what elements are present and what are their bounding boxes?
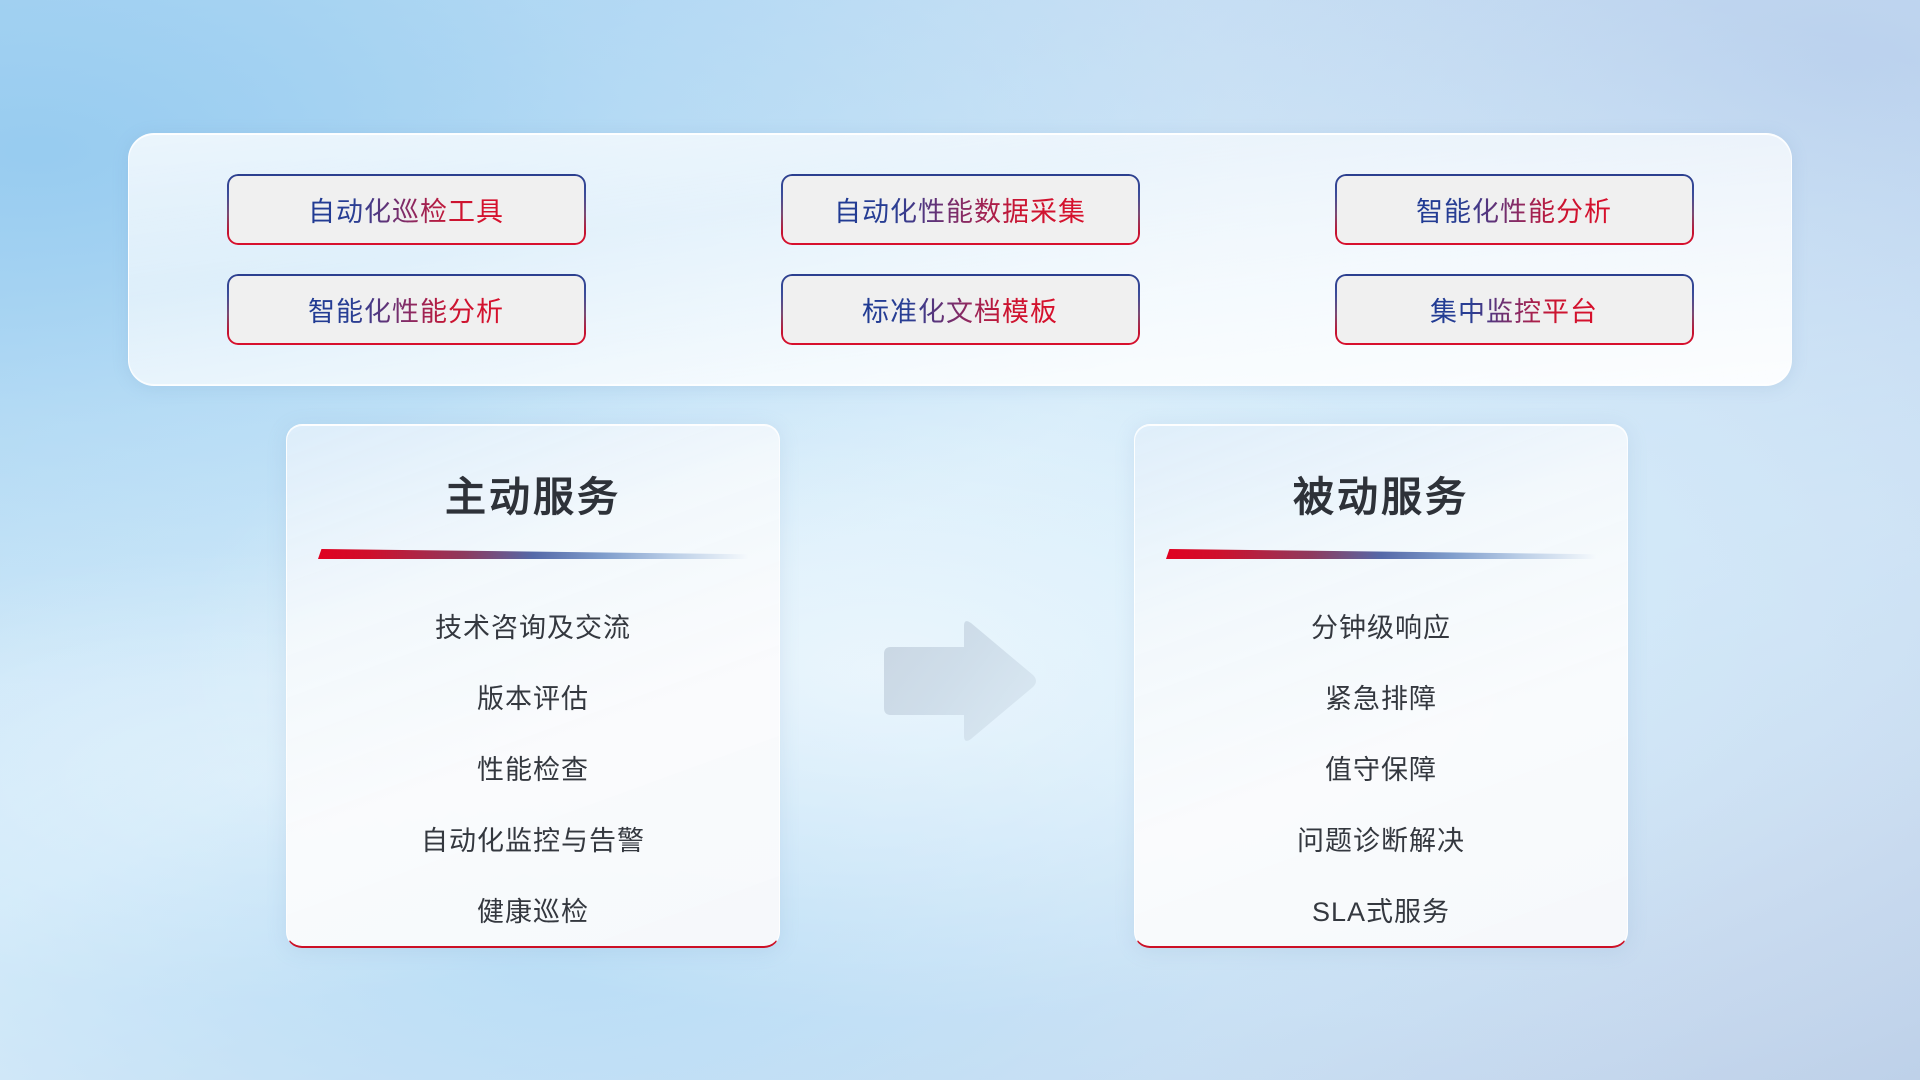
capability-tag-label: 智能化性能分析 <box>1416 190 1612 229</box>
service-item-list: 技术咨询及交流 版本评估 性能检查 自动化监控与告警 健康巡检 <box>287 593 779 948</box>
capability-tag-label: 自动化巡检工具 <box>308 190 504 229</box>
service-list-item: 版本评估 <box>287 664 779 735</box>
service-list-item: 值守保障 <box>1135 735 1627 806</box>
service-card-reactive[interactable]: 被动服务 分钟级响应 紧急排障 值守保障 问题诊断解决 SLA式服务 <box>1134 424 1628 948</box>
service-list-item: SLA式服务 <box>1135 877 1627 948</box>
slide-canvas: 自动化巡检工具 自动化性能数据采集 智能化性能分析 智能化性能分析 标准化文档模… <box>0 0 1920 1080</box>
title-divider <box>318 549 748 559</box>
divider-wedge <box>318 549 748 559</box>
service-list-item: 技术咨询及交流 <box>287 593 779 664</box>
right-arrow-icon <box>878 618 1038 744</box>
service-item-list: 分钟级响应 紧急排障 值守保障 问题诊断解决 SLA式服务 <box>1135 593 1627 948</box>
service-card-proactive[interactable]: 主动服务 技术咨询及交流 版本评估 性能检查 自动化监控与告警 健康巡检 <box>286 424 780 948</box>
capability-tag-label: 标准化文档模板 <box>862 290 1058 329</box>
capability-tag[interactable]: 自动化巡检工具 <box>227 174 586 245</box>
capability-tag[interactable]: 标准化文档模板 <box>781 274 1140 345</box>
capability-tag-label: 集中监控平台 <box>1430 290 1598 329</box>
capability-tag[interactable]: 智能化性能分析 <box>1335 174 1694 245</box>
capability-tag-label: 自动化性能数据采集 <box>834 190 1086 229</box>
service-card-title: 被动服务 <box>1135 463 1627 523</box>
service-list-item: 性能检查 <box>287 735 779 806</box>
service-list-item: 自动化监控与告警 <box>287 806 779 877</box>
capability-tags-grid: 自动化巡检工具 自动化性能数据采集 智能化性能分析 智能化性能分析 标准化文档模… <box>129 134 1791 385</box>
capability-tags-panel: 自动化巡检工具 自动化性能数据采集 智能化性能分析 智能化性能分析 标准化文档模… <box>128 133 1792 386</box>
capability-tag[interactable]: 智能化性能分析 <box>227 274 586 345</box>
divider-wedge <box>1166 549 1596 559</box>
service-list-item: 问题诊断解决 <box>1135 806 1627 877</box>
service-list-item: 紧急排障 <box>1135 664 1627 735</box>
capability-tag[interactable]: 自动化性能数据采集 <box>781 174 1140 245</box>
capability-tag[interactable]: 集中监控平台 <box>1335 274 1694 345</box>
service-card-title: 主动服务 <box>287 463 779 523</box>
capability-tag-label: 智能化性能分析 <box>308 290 504 329</box>
service-list-item: 分钟级响应 <box>1135 593 1627 664</box>
service-list-item: 健康巡检 <box>287 877 779 948</box>
title-divider <box>1166 549 1596 559</box>
